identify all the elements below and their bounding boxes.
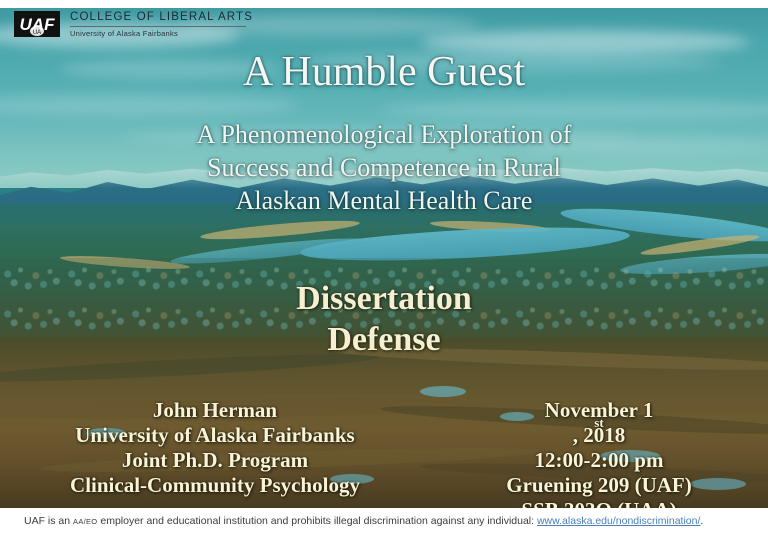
nondiscrimination-link[interactable]: www.alaska.edu/nondiscrimination/ [537,515,700,527]
top-white-strip [0,0,768,8]
uaf-wordmark: COLLEGE OF LIBERAL ARTS University of Al… [70,10,253,38]
footer-text: UAF is an AA/EO employer and educational… [0,515,703,527]
presenter-block: John Herman University of Alaska Fairban… [0,398,430,523]
subtitle-line: Alaskan Mental Health Care [0,184,768,217]
college-name: COLLEGE OF LIBERAL ARTS [70,11,253,24]
event-location-uaf: Gruening 209 (UAF) [430,473,768,498]
event-time: 12:00-2:00 pm [430,448,768,473]
presenter-name: John Herman [0,398,430,423]
uaf-logo-icon: UAF UA [14,11,60,37]
footer-abbreviation: AA/EO [73,517,97,526]
event-line: Defense [0,319,768,360]
page-title: A Humble Guest [0,48,768,96]
footer-disclaimer-bar: UAF is an AA/EO employer and educational… [0,508,768,534]
subtitle-line: A Phenomenological Exploration of [0,118,768,151]
footer-text-before: UAF is an [24,515,73,527]
presenter-program: Joint Ph.D. Program [0,448,430,473]
footer-text-after: employer and educational institution and… [97,515,537,527]
subtitle-line: Success and Competence in Rural [0,151,768,184]
logistics-block: November 1st, 2018 12:00-2:00 pm Gruenin… [430,398,768,523]
event-line: Dissertation [0,278,768,319]
wordmark-divider [70,26,246,27]
presenter-department: Clinical-Community Psychology [0,473,430,498]
subtitle: A Phenomenological Exploration of Succes… [0,118,768,217]
event-type-heading: Dissertation Defense [0,278,768,360]
presenter-institution: University of Alaska Fairbanks [0,423,430,448]
event-date: November 1st, 2018 [430,398,768,448]
poster: UAF UA COLLEGE OF LIBERAL ARTS Universit… [0,0,768,534]
event-date-year: , 2018 [430,423,768,448]
svg-text:UA: UA [33,30,41,36]
university-name: University of Alaska Fairbanks [70,29,253,38]
footer-period: . [700,515,703,527]
details-row: John Herman University of Alaska Fairban… [0,398,768,523]
uaf-branding-header: UAF UA COLLEGE OF LIBERAL ARTS Universit… [14,10,253,38]
